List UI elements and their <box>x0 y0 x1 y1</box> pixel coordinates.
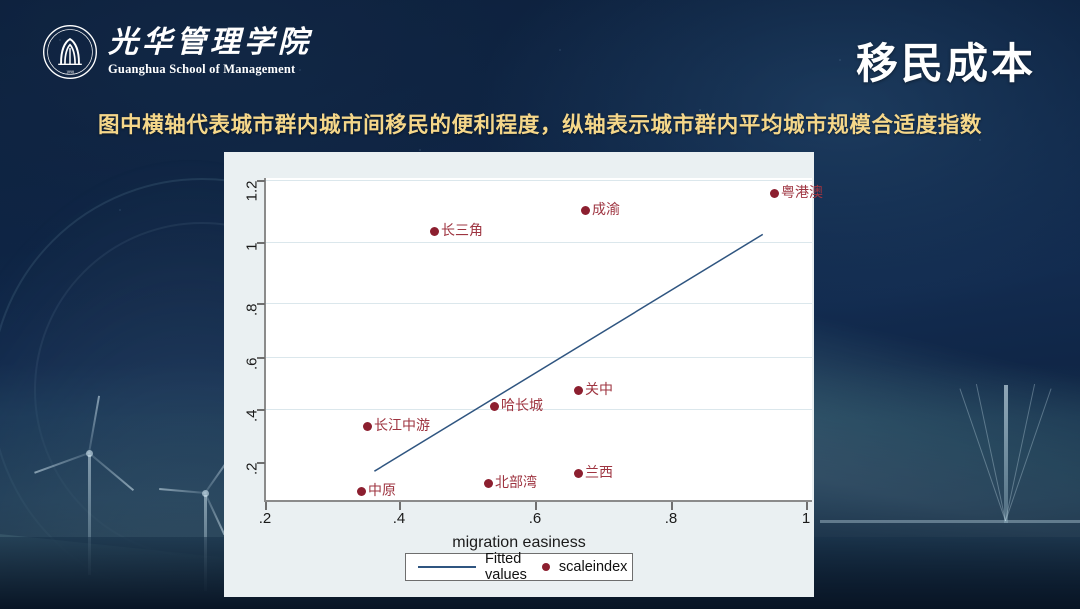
x-tick <box>535 502 537 510</box>
data-point-label: 长三角 <box>441 220 483 240</box>
data-point[interactable] <box>363 422 372 431</box>
gridline <box>265 303 812 304</box>
y-tick-label: .2 <box>244 463 261 503</box>
brand-logo: 1898 光华管理学院 Guanghua School of Managemen… <box>42 24 312 80</box>
slide: 1898 光华管理学院 Guanghua School of Managemen… <box>0 0 1080 609</box>
bridge-pylon <box>1004 385 1008 523</box>
x-tick-label: .6 <box>515 510 555 527</box>
data-point-label: 北部湾 <box>495 472 537 492</box>
legend-line-swatch <box>418 566 476 568</box>
legend-label-scaleindex[interactable]: scaleindex <box>559 559 628 575</box>
brand-name-cn: 光华管理学院 <box>108 28 312 58</box>
page-title: 移民成本 <box>856 30 1036 91</box>
x-tick <box>399 502 401 510</box>
x-tick-label: 1 <box>786 510 826 527</box>
data-point[interactable] <box>581 206 590 215</box>
x-axis-title: migration easiness <box>224 534 814 552</box>
y-tick-label: .8 <box>244 304 261 344</box>
data-point[interactable] <box>574 469 583 478</box>
slide-header: 1898 光华管理学院 Guanghua School of Managemen… <box>0 0 1080 100</box>
data-point[interactable] <box>770 189 779 198</box>
brand-name-en: Guanghua School of Management <box>108 63 312 76</box>
data-point[interactable] <box>490 402 499 411</box>
gridline <box>265 242 812 243</box>
y-axis-line <box>264 178 266 500</box>
y-tick-label: .4 <box>244 410 261 450</box>
slide-subtitle: 图中横轴代表城市群内城市间移民的便利程度，纵轴表示城市群内平均城市规模合适度指数 <box>0 108 1080 139</box>
data-point[interactable] <box>574 386 583 395</box>
data-point-label: 哈长城 <box>501 395 543 415</box>
gridline <box>265 357 812 358</box>
y-tick-label: .6 <box>244 358 261 398</box>
data-point[interactable] <box>430 227 439 236</box>
bridge-deck <box>820 520 1080 523</box>
legend-dot-swatch <box>542 563 550 571</box>
scatter-chart: 1.2 1 .8 .6 .4 .2 .2 .4 .6 .8 1 migratio… <box>224 152 814 597</box>
svg-text:1898: 1898 <box>66 70 74 74</box>
data-point-label: 成渝 <box>592 199 620 219</box>
data-point-label: 关中 <box>585 379 613 399</box>
plot-area <box>265 178 812 500</box>
data-point-label: 中原 <box>368 480 396 500</box>
legend-label-fitted[interactable]: Fitted values <box>485 551 527 583</box>
x-axis-line <box>264 500 812 502</box>
x-tick-label: .4 <box>379 510 419 527</box>
x-tick <box>265 502 267 510</box>
x-tick-label: .8 <box>651 510 691 527</box>
peking-university-seal-icon: 1898 <box>42 24 98 80</box>
y-tick-label: 1 <box>244 243 261 283</box>
y-tick-label: 1.2 <box>244 181 261 221</box>
data-point-label: 粤港澳 <box>781 182 823 202</box>
brand-logo-text: 光华管理学院 Guanghua School of Management <box>108 28 312 76</box>
data-point-label: 长江中游 <box>374 415 430 435</box>
chart-legend: Fitted values scaleindex <box>405 553 633 581</box>
x-tick-label: .2 <box>245 510 285 527</box>
data-point[interactable] <box>484 479 493 488</box>
data-point[interactable] <box>357 487 366 496</box>
data-point-label: 兰西 <box>585 462 613 482</box>
x-tick <box>671 502 673 510</box>
gridline <box>265 180 812 181</box>
x-tick <box>806 502 808 510</box>
